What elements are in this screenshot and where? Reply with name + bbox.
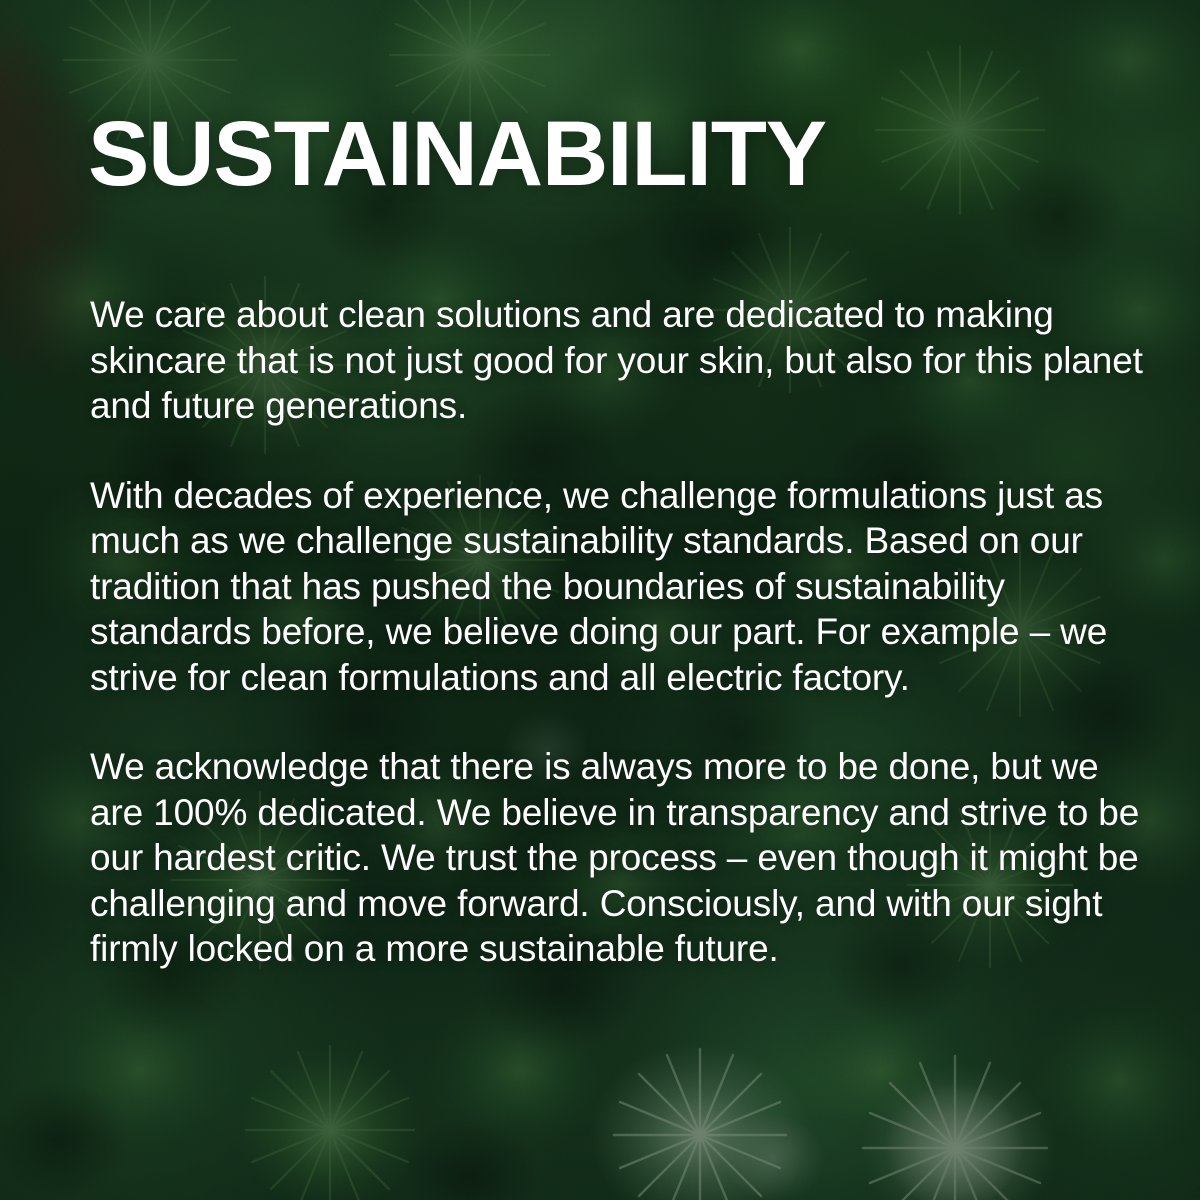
sustainability-page: SUSTAINABILITY We care about clean solut… (0, 0, 1200, 1200)
paragraph-commitment: We acknowledge that there is always more… (90, 744, 1148, 972)
paragraph-intro: We care about clean solutions and are de… (90, 292, 1148, 429)
paragraph-experience: With decades of experience, we challenge… (90, 473, 1148, 701)
page-title: SUSTAINABILITY (88, 108, 826, 200)
content-column: SUSTAINABILITY We care about clean solut… (88, 0, 1148, 1200)
body-copy: We care about clean solutions and are de… (90, 292, 1148, 972)
